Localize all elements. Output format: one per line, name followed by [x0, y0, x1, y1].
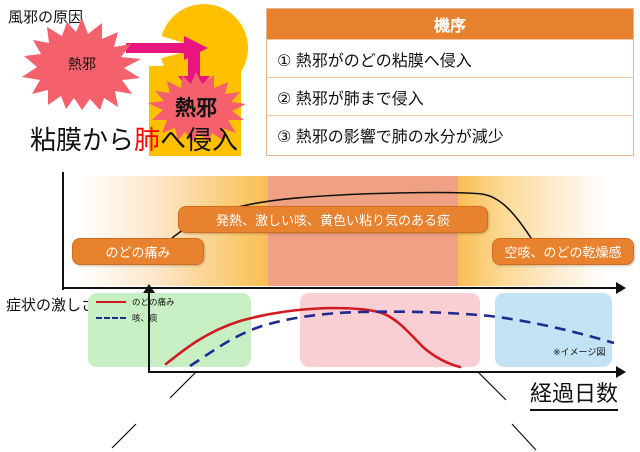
burst-cause-label: 熱邪 — [22, 18, 142, 110]
invasion-caption: 粘膜から肺へ侵入 — [30, 120, 238, 157]
table-row: ① 熱邪がのどの粘膜へ侵入 — [267, 39, 633, 77]
caption-part-before: 粘膜から — [30, 125, 134, 155]
legend-item-sore-throat: のどの痛み — [96, 295, 216, 309]
chart-note: ※イメージ図 — [553, 345, 605, 358]
table-row: ② 熱邪が肺まで侵入 — [267, 77, 633, 115]
timeline-label-middle: 発熱、激しい咳、黄色い粘り気のある痰 — [178, 206, 488, 233]
symptom-timeline-panel: のどの痛み 発熱、激しい咳、黄色い粘り気のある痰 空咳、のどの乾燥感 — [0, 160, 640, 292]
timeline-label-early: のどの痛み — [72, 238, 204, 265]
legend-label: 咳、痰 — [132, 312, 158, 324]
caption-part-after: へ侵入 — [160, 125, 238, 155]
pathogen-illustration: 風邪の原因 熱邪 熱邪 粘膜から肺へ侵入 — [0, 0, 258, 162]
timeline-label-late: 空咳、のどの乾燥感 — [492, 238, 634, 265]
mechanism-table: 機序 ① 熱邪がのどの粘膜へ侵入 ② 熱邪が肺まで侵入 ③ 熱邪の影響で肺の水分… — [266, 8, 634, 156]
mechanism-table-header: 機序 — [267, 9, 633, 39]
legend-label: のどの痛み — [132, 296, 175, 308]
severity-line-chart: 症状の激しさ のどの痛み 咳、痰 ※イメージ図 経過日数 — [0, 288, 640, 409]
table-row: ③ 熱邪の影響で肺の水分が減少 — [267, 115, 633, 153]
legend-item-cough-phlegm: 咳、痰 — [96, 311, 216, 325]
legend-swatch-solid-line-icon — [96, 301, 126, 303]
legend-swatch-dashed-line-icon — [96, 317, 126, 319]
caption-highlight-lung: 肺 — [134, 125, 160, 155]
chart-legend: のどの痛み 咳、痰 — [96, 295, 216, 327]
chart-x-axis-label: 経過日数 — [530, 376, 618, 411]
